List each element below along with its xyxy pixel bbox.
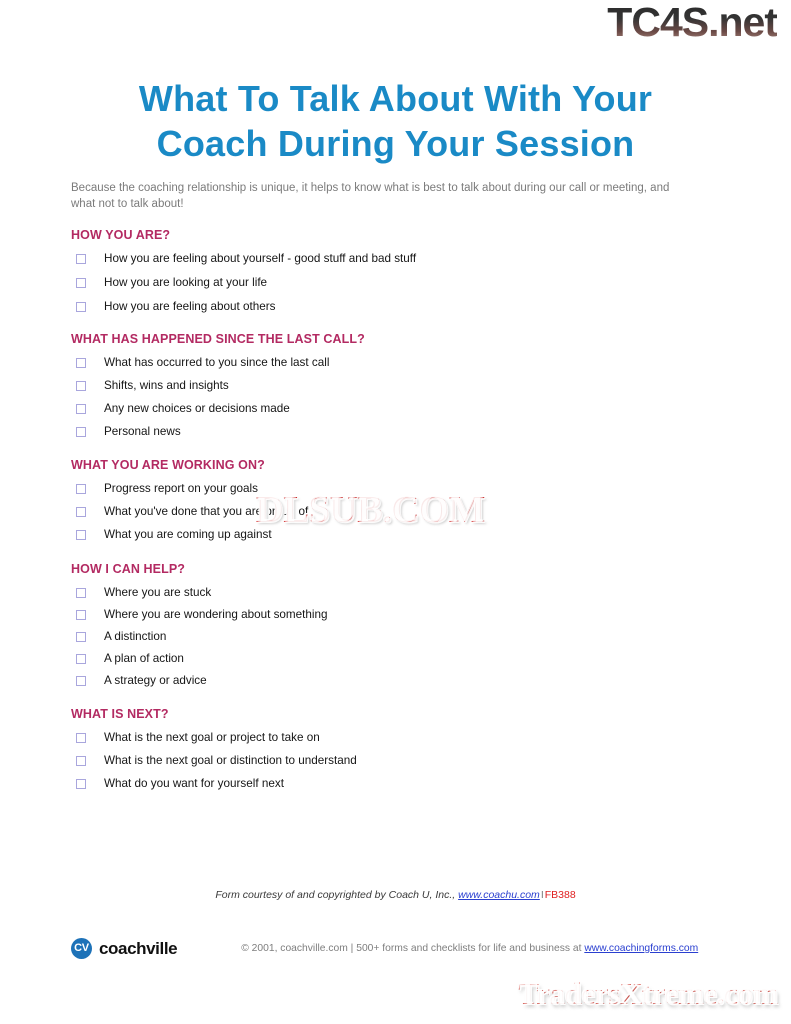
checkbox-icon[interactable] bbox=[76, 588, 86, 598]
checkbox-icon[interactable] bbox=[76, 610, 86, 620]
checklist-item-label: How you are feeling about others bbox=[104, 299, 276, 314]
checkbox-icon[interactable] bbox=[76, 358, 86, 368]
checkbox-icon[interactable] bbox=[76, 779, 86, 789]
checklist-item[interactable]: How you are looking at your life bbox=[71, 275, 711, 290]
page-title-line-1: What To Talk About With Your bbox=[0, 76, 791, 121]
checklist-item-label: Any new choices or decisions made bbox=[104, 401, 290, 416]
section-heading: WHAT IS NEXT? bbox=[71, 707, 711, 721]
cv-badge-icon: CV bbox=[71, 938, 92, 959]
checkbox-icon[interactable] bbox=[76, 654, 86, 664]
checkbox-icon[interactable] bbox=[76, 404, 86, 414]
section-how-you-are: HOW YOU ARE? How you are feeling about y… bbox=[71, 228, 711, 314]
checklist-item[interactable]: What is the next goal or project to take… bbox=[71, 730, 711, 745]
checkbox-icon[interactable] bbox=[76, 530, 86, 540]
checklist-item[interactable]: Where you are stuck bbox=[71, 585, 711, 600]
checklist-item-label: What you are coming up against bbox=[104, 527, 272, 542]
intro-paragraph: Because the coaching relationship is uni… bbox=[71, 180, 671, 212]
section-heading: WHAT YOU ARE WORKING ON? bbox=[71, 458, 711, 472]
section-heading: HOW I CAN HELP? bbox=[71, 562, 711, 576]
footer-note: © 2001, coachville.com | 500+ forms and … bbox=[241, 943, 698, 954]
checklist-item-label: What has occurred to you since the last … bbox=[104, 355, 329, 370]
checklist-item[interactable]: A strategy or advice bbox=[71, 673, 711, 688]
page-title: What To Talk About With Your Coach Durin… bbox=[0, 76, 791, 166]
page-title-line-2: Coach During Your Session bbox=[0, 121, 791, 166]
checklist-item[interactable]: What do you want for yourself next bbox=[71, 776, 711, 791]
checkbox-icon[interactable] bbox=[76, 507, 86, 517]
checklist-item[interactable]: A plan of action bbox=[71, 651, 711, 666]
checklist-item[interactable]: Personal news bbox=[71, 424, 711, 439]
checklist-item-label: A strategy or advice bbox=[104, 673, 207, 688]
coachingforms-link[interactable]: www.coachingforms.com bbox=[584, 943, 698, 954]
courtesy-text: Form courtesy of and copyrighted by Coac… bbox=[215, 889, 455, 901]
checkbox-icon[interactable] bbox=[76, 278, 86, 288]
checklist-item-label: How you are looking at your life bbox=[104, 275, 267, 290]
form-courtesy-line: Form courtesy of and copyrighted by Coac… bbox=[0, 889, 791, 901]
page-footer: CV coachville © 2001, coachville.com | 5… bbox=[71, 938, 721, 959]
checklist-item[interactable]: Any new choices or decisions made bbox=[71, 401, 711, 416]
section-what-has-happened: WHAT HAS HAPPENED SINCE THE LAST CALL? W… bbox=[71, 332, 711, 439]
checklist-item-label: Personal news bbox=[104, 424, 181, 439]
checklist-item-label: What is the next goal or distinction to … bbox=[104, 753, 357, 768]
coachville-logo[interactable]: CV coachville bbox=[71, 938, 177, 959]
checklist-item-label: How you are feeling about yourself - goo… bbox=[104, 251, 416, 266]
checklist-item[interactable]: A distinction bbox=[71, 629, 711, 644]
checkbox-icon[interactable] bbox=[76, 484, 86, 494]
section-how-i-can-help: HOW I CAN HELP? Where you are stuck Wher… bbox=[71, 562, 711, 688]
section-heading: WHAT HAS HAPPENED SINCE THE LAST CALL? bbox=[71, 332, 711, 346]
checkbox-icon[interactable] bbox=[76, 427, 86, 437]
checklist-item-label: Where you are stuck bbox=[104, 585, 211, 600]
checkbox-icon[interactable] bbox=[76, 381, 86, 391]
checklist-item[interactable]: Shifts, wins and insights bbox=[71, 378, 711, 393]
coachu-link[interactable]: www.coachu.com bbox=[458, 889, 540, 901]
checklist-item-label: Shifts, wins and insights bbox=[104, 378, 229, 393]
watermark-bottom-tradersxtreme: TradersXtreme.com bbox=[518, 978, 778, 1009]
coachville-wordmark: coachville bbox=[99, 939, 177, 959]
checkbox-icon[interactable] bbox=[76, 254, 86, 264]
checklist-item[interactable]: What has occurred to you since the last … bbox=[71, 355, 711, 370]
checklist-item-label: A distinction bbox=[104, 629, 166, 644]
checkbox-icon[interactable] bbox=[76, 756, 86, 766]
checkbox-icon[interactable] bbox=[76, 632, 86, 642]
watermark-middle-dlsub: DLSUB.COM bbox=[256, 491, 485, 529]
form-code: FB388 bbox=[545, 889, 576, 901]
document-page: TC4S.net What To Talk About With Your Co… bbox=[0, 0, 791, 1024]
checklist-item-label: Where you are wondering about something bbox=[104, 607, 328, 622]
checklist-item[interactable]: Where you are wondering about something bbox=[71, 607, 711, 622]
checklist-item-label: Progress report on your goals bbox=[104, 481, 258, 496]
checklist-item-label: A plan of action bbox=[104, 651, 184, 666]
checklist-item[interactable]: How you are feeling about others bbox=[71, 299, 711, 314]
checklist-item-label: What do you want for yourself next bbox=[104, 776, 284, 791]
watermark-top-tc4s: TC4S.net bbox=[607, 2, 777, 43]
checklist-item[interactable]: What is the next goal or distinction to … bbox=[71, 753, 711, 768]
checklist-item[interactable]: How you are feeling about yourself - goo… bbox=[71, 251, 711, 266]
checkbox-icon[interactable] bbox=[76, 676, 86, 686]
footer-note-text: © 2001, coachville.com | 500+ forms and … bbox=[241, 943, 581, 954]
checkbox-icon[interactable] bbox=[76, 733, 86, 743]
checkbox-icon[interactable] bbox=[76, 302, 86, 312]
checklist-item-label: What is the next goal or project to take… bbox=[104, 730, 320, 745]
section-what-is-next: WHAT IS NEXT? What is the next goal or p… bbox=[71, 707, 711, 791]
section-heading: HOW YOU ARE? bbox=[71, 228, 711, 242]
